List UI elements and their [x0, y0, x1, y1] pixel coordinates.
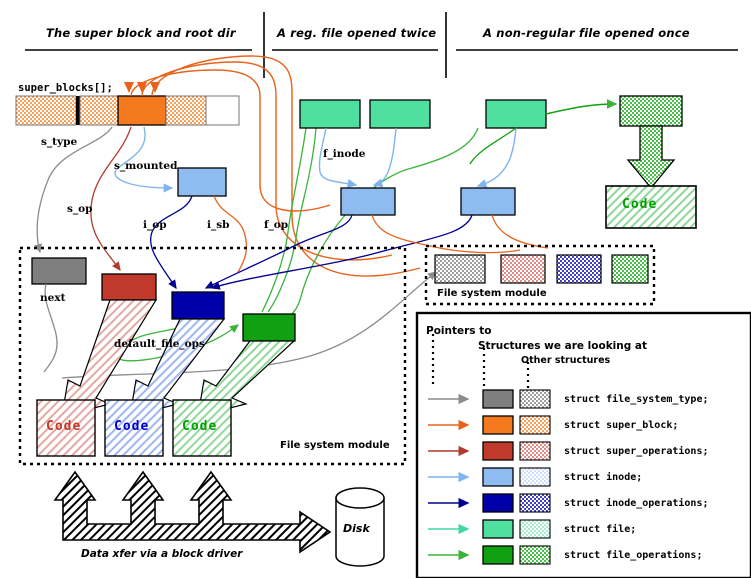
legend-row-label: struct super_operations; — [564, 446, 709, 457]
edge-file-to-fops-nonreg — [546, 104, 616, 114]
legend-row-label: struct file_system_type; — [564, 394, 709, 405]
diagram-canvas: The super block and root dir A reg. file… — [0, 0, 751, 578]
arrow-fops-to-code-nonreg — [628, 126, 674, 188]
box-file-operations — [243, 314, 295, 341]
legend-row-label: struct inode; — [564, 472, 642, 483]
legend-row-label: struct file; — [564, 524, 636, 535]
label-i-sb: i_sb — [207, 219, 230, 231]
label-s-mounted: s_mounted — [114, 160, 177, 172]
box-file-2 — [370, 100, 430, 128]
module-label-right: File system module — [437, 288, 547, 299]
box-super-operations — [102, 274, 156, 300]
column-header-3: A non-regular file opened once — [483, 26, 690, 40]
box-other-inode-operations — [557, 255, 601, 283]
box-file-operations-nonreg — [620, 96, 682, 126]
label-f-op: f_op — [264, 219, 288, 231]
code-label-inode-operations: Code — [114, 419, 149, 434]
label-default-file-ops: default_file_ops — [114, 338, 205, 350]
box-inode-reg — [341, 188, 395, 215]
legend-caption-pointers: Pointers to — [426, 325, 491, 337]
legend-caption-looking: Structures we are looking at — [478, 340, 647, 352]
module-label-left: File system module — [280, 440, 390, 451]
box-other-super-operations — [501, 255, 545, 283]
column-header-1: The super block and root dir — [46, 26, 236, 40]
edge-s-op — [91, 127, 131, 270]
arrow-block-driver — [55, 472, 330, 552]
super-blocks-array-label: super_blocks[]; — [18, 82, 113, 94]
super-block-arrowheads — [124, 82, 160, 93]
box-inode-operations — [172, 292, 224, 319]
box-file-system-type — [32, 258, 86, 284]
label-s-type: s_type — [41, 136, 77, 148]
box-inode-nonreg — [461, 188, 515, 215]
box-other-file-operations — [612, 255, 648, 283]
super-blocks-array — [16, 96, 239, 125]
edge-i-op-root — [151, 196, 192, 288]
disk-label: Disk — [343, 522, 370, 535]
label-f-inode: f_inode — [323, 148, 365, 160]
legend-row-label: struct file_operations; — [564, 550, 702, 561]
column-dividers — [25, 12, 738, 78]
code-label-file-operations: Code — [182, 419, 217, 434]
box-file-1 — [300, 100, 360, 128]
label-s-op: s_op — [67, 203, 93, 215]
box-other-file-system-type — [435, 255, 485, 283]
legend-caption-other: Other structures — [521, 355, 610, 366]
label-next: next — [40, 292, 65, 304]
edge-file-nonreg-down — [470, 128, 516, 164]
block-driver-label: Data xfer via a block driver — [81, 548, 242, 560]
code-label-super-operations: Code — [46, 419, 81, 434]
edge-s-mounted — [115, 127, 172, 188]
edge-i-sb — [214, 196, 246, 272]
label-i-op: i_op — [143, 219, 167, 231]
box-root-inode — [178, 168, 226, 196]
column-header-2: A reg. file opened twice — [277, 26, 436, 40]
legend-row-label: struct inode_operations; — [564, 498, 709, 509]
box-file-3 — [486, 100, 546, 128]
legend-row-label: struct super_block; — [564, 420, 678, 431]
code-label-nonreg-file-operations: Code — [622, 197, 657, 212]
